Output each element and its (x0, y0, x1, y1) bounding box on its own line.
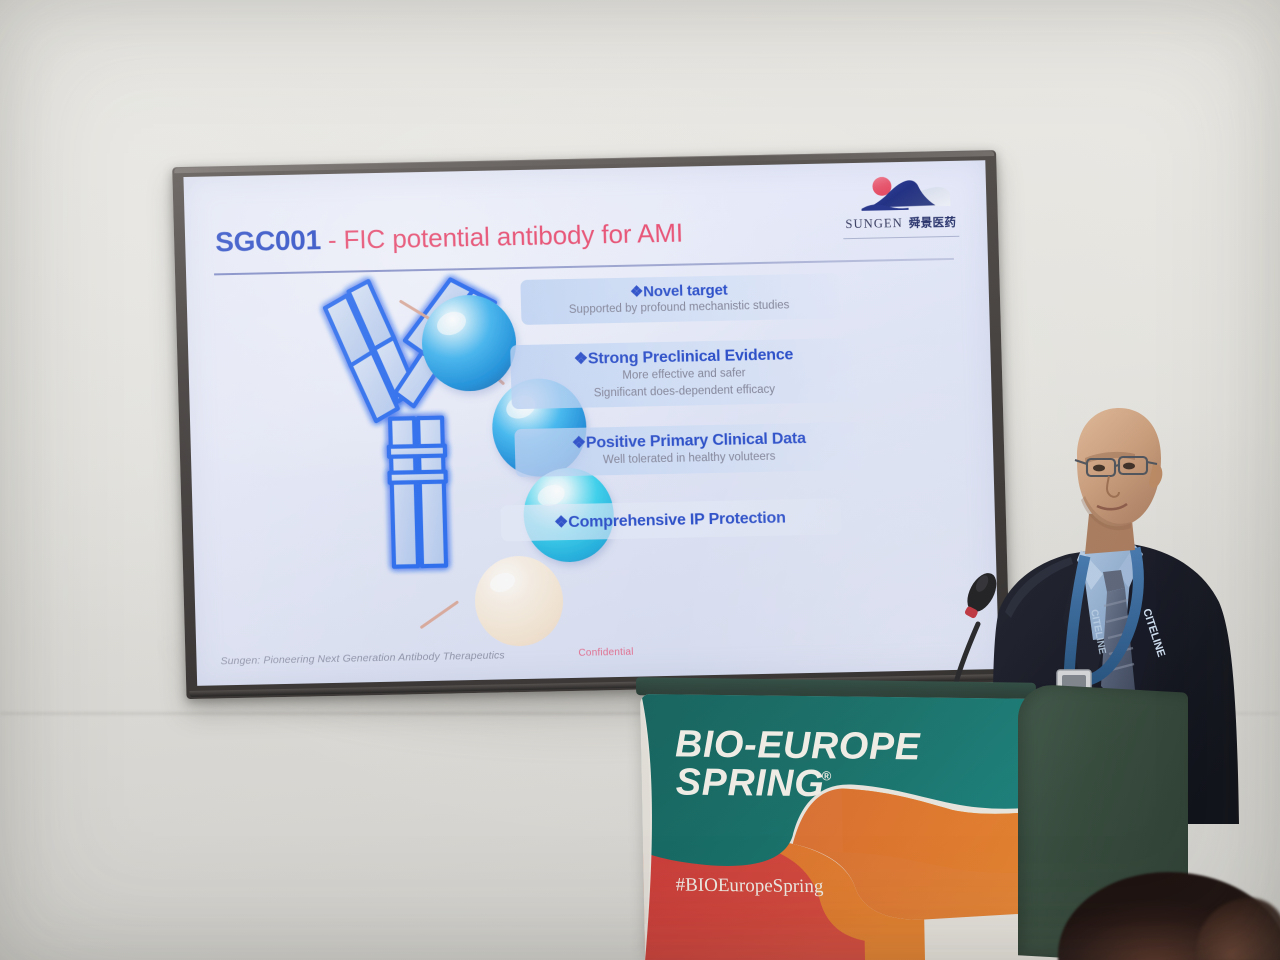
bullet-marker-icon: ❖ (554, 514, 569, 531)
bullet-list: ❖Novel target Supported by profound mech… (486, 271, 963, 547)
slide-footer: Sungen: Pioneering Next Generation Antib… (196, 639, 998, 674)
podium: BIO-EUROPE SPRING ® #BIOEuropeSpring (640, 694, 1060, 960)
bullet-marker-icon: ❖ (574, 351, 589, 368)
company-logo: SUNGEN 舜景医药 (838, 175, 964, 240)
logo-text-en: SUNGEN (845, 216, 903, 232)
bullet-heading-text: Novel target (643, 282, 728, 301)
presentation-slide: SGC001 - FIC potential antibody for AMI (183, 160, 999, 686)
bullet-heading-text: Positive Primary Clinical Data (586, 430, 806, 452)
logo-underline (843, 236, 959, 239)
sungen-mountain-icon (856, 175, 953, 215)
bullet-heading-text: Strong Preclinical Evidence (588, 347, 794, 368)
bullet-heading: ❖Comprehensive IP Protection (513, 506, 827, 533)
bullet-item-positive-primary-clinical-data[interactable]: ❖Positive Primary Clinical Data Well tol… (514, 422, 865, 477)
bullet-marker-icon: ❖ (630, 283, 644, 300)
bullet-item-novel-target[interactable]: ❖Novel target Supported by profound mech… (520, 273, 839, 325)
footer-tagline: Sungen: Pioneering Next Generation Antib… (220, 649, 504, 667)
podium-front-panel: BIO-EUROPE SPRING ® #BIOEuropeSpring (640, 694, 1065, 960)
logo-text-cn: 舜景医药 (909, 214, 957, 231)
bio-europe-spring-banner: BIO-EUROPE SPRING ® #BIOEuropeSpring (640, 694, 1065, 960)
screen-panel[interactable]: SGC001 - FIC potential antibody for AMI (183, 160, 999, 686)
footer-confidential-label: Confidential (578, 647, 634, 659)
speaker-head (1075, 408, 1162, 530)
mic-head (959, 568, 998, 622)
bullet-heading-text: Comprehensive IP Protection (568, 509, 786, 531)
bullet-marker-icon: ❖ (572, 435, 587, 452)
bullet-item-strong-preclinical-evidence[interactable]: ❖Strong Preclinical Evidence More effect… (510, 338, 860, 409)
presentation-scene: SGC001 - FIC potential antibody for AMI (0, 0, 1280, 960)
display-screen[interactable]: SGC001 - FIC potential antibody for AMI (172, 150, 1010, 699)
bullet-item-comprehensive-ip-protection[interactable]: ❖Comprehensive IP Protection (500, 498, 841, 541)
